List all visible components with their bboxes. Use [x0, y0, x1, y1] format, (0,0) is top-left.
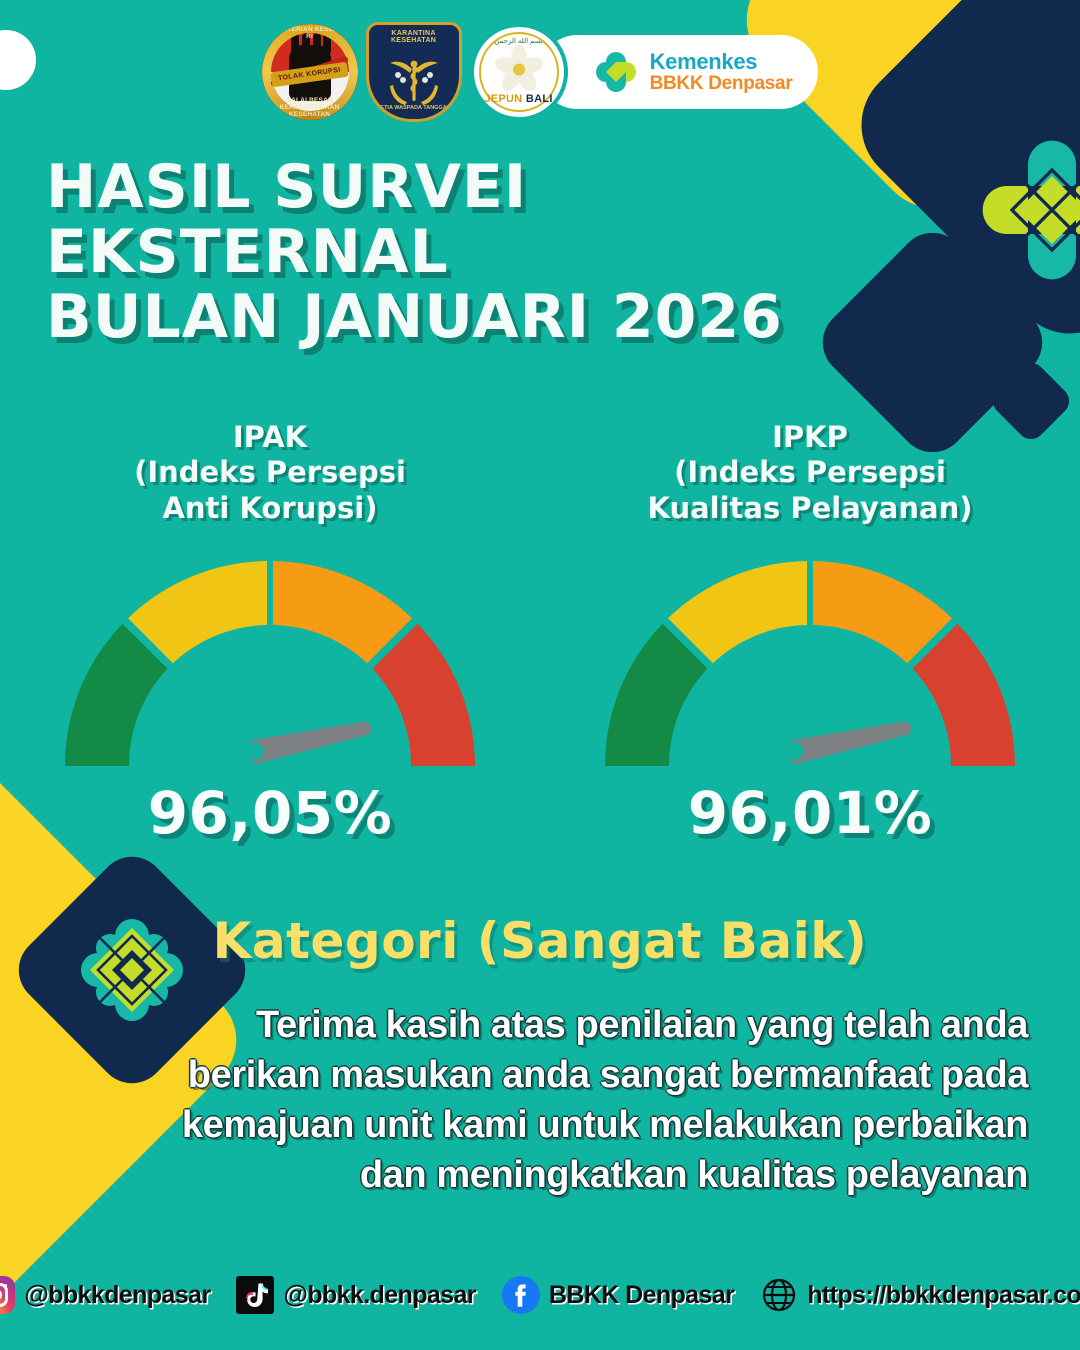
gauge-ipkp — [540, 548, 1080, 773]
headline-line-3: BULAN JANUARI 2026 — [46, 285, 783, 350]
website-url: https://bbkkdenpasar.com — [807, 1281, 1080, 1310]
gauge-title-ipkp: IPKP (Indeks Persepsi Kualitas Pelayanan… — [540, 420, 1080, 526]
shield-bottom-text: SETIA WASPADA TANGGAP — [369, 105, 459, 111]
tolak-korupsi-ring-top: KEMENTERIAN KESEHATAN RI — [262, 26, 358, 40]
tiktok-icon[interactable] — [236, 1276, 274, 1314]
header-logo-row: TOLAK KORUPSI KEMENTERIAN KESEHATAN RI B… — [0, 22, 1080, 122]
ipkp-abbrev: IPKP — [540, 420, 1080, 455]
frangipani-flower-icon — [494, 45, 544, 95]
tolak-korupsi-ring-bottom: BALAI BESAR KEKARANTINAAN KESEHATAN — [262, 97, 358, 118]
category-label: Kategori (Sangat Baik) — [0, 912, 1080, 970]
thank-you-message: Terima kasih atas penilaian yang telah a… — [88, 1000, 1028, 1201]
instagram-handle: @bbkkdenpasar — [24, 1281, 210, 1310]
gauge-panel-ipak: IPAK (Indeks Persepsi Anti Korupsi) — [0, 420, 540, 847]
footer-item-website[interactable]: https://bbkkdenpasar.com — [760, 1276, 1080, 1314]
gauge-panels: IPAK (Indeks Persepsi Anti Korupsi) — [0, 420, 1080, 847]
kemenkes-clover-icon — [592, 48, 640, 96]
kemenkes-germas-logo-top-right — [972, 130, 1080, 290]
bbkk-denpasar-label: BBKK Denpasar — [650, 74, 793, 94]
body-line-3: kemajuan unit kami untuk melakukan perba… — [88, 1100, 1028, 1150]
jepun-word: JEPUN — [484, 93, 522, 105]
facebook-icon[interactable] — [502, 1276, 540, 1314]
shield-top-text: KARANTINA KESEHATAN — [369, 30, 459, 44]
kemenkes-bbkk-pill: Kemenkes BBKK Denpasar — [540, 35, 819, 109]
kemenkes-label: Kemenkes — [650, 50, 793, 73]
body-line-2: berikan masukan anda sangat bermanfaat p… — [88, 1050, 1028, 1100]
karantina-kesehatan-shield: KARANTINA KESEHATAN SETIA WASPADA TANGGA… — [366, 22, 462, 122]
gauge-panel-ipkp: IPKP (Indeks Persepsi Kualitas Pelayanan… — [540, 420, 1080, 847]
social-footer: @bbkkdenpasar @bbkk.denpasar BBKK Denpas… — [0, 1276, 1080, 1314]
footer-item-facebook[interactable]: BBKK Denpasar — [502, 1276, 734, 1314]
gauge-value-ipak: 96,05% — [0, 779, 540, 847]
headline-line-1: HASIL SURVEI — [46, 155, 783, 220]
ipak-abbrev: IPAK — [0, 420, 540, 455]
bali-word: BALI — [526, 93, 553, 105]
ipak-subtitle-1: (Indeks Persepsi — [0, 455, 540, 490]
instagram-icon[interactable] — [0, 1276, 15, 1314]
gauge-value-ipkp: 96,01% — [540, 779, 1080, 847]
body-line-4: dan meningkatkan kualitas pelayanan — [88, 1150, 1028, 1200]
gauge-title-ipak: IPAK (Indeks Persepsi Anti Korupsi) — [0, 420, 540, 526]
facebook-page-name: BBKK Denpasar — [549, 1281, 734, 1310]
poster-canvas: TOLAK KORUPSI KEMENTERIAN KESEHATAN RI B… — [0, 0, 1080, 1350]
footer-item-tiktok[interactable]: @bbkk.denpasar — [236, 1276, 475, 1314]
body-line-1: Terima kasih atas penilaian yang telah a… — [88, 1000, 1028, 1050]
ipkp-subtitle-1: (Indeks Persepsi — [540, 455, 1080, 490]
jepun-bali-seal: بسم الله الرحمن JEPUN BALI — [470, 23, 568, 121]
ipkp-subtitle-2: Kualitas Pelayanan) — [540, 491, 1080, 526]
headline-line-2: EKSTERNAL — [46, 220, 783, 285]
ipak-subtitle-2: Anti Korupsi) — [0, 491, 540, 526]
globe-icon[interactable] — [760, 1276, 798, 1314]
page-title: HASIL SURVEI EKSTERNAL BULAN JANUARI 202… — [46, 155, 783, 349]
footer-item-instagram[interactable]: @bbkkdenpasar — [0, 1276, 210, 1314]
tiktok-handle: @bbkk.denpasar — [283, 1281, 475, 1310]
caduceus-icon — [384, 51, 444, 107]
jepun-bali-wordmark: JEPUN BALI — [474, 93, 564, 105]
tolak-korupsi-seal: TOLAK KORUPSI KEMENTERIAN KESEHATAN RI B… — [262, 24, 358, 120]
gauge-ipak — [0, 548, 540, 773]
